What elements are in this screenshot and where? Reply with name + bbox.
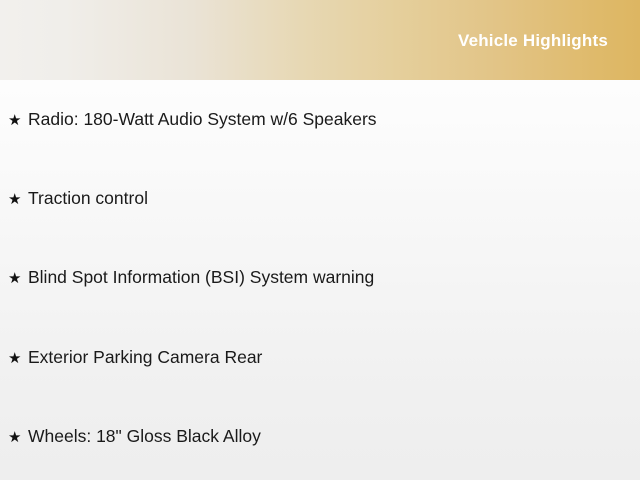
vehicle-highlights-page: Vehicle Highlights ★ Radio: 180-Watt Aud… xyxy=(0,0,640,480)
page-header: Vehicle Highlights xyxy=(0,0,640,80)
feature-label: Traction control xyxy=(28,190,148,208)
list-item: ★ Wheels: 18" Gloss Black Alloy xyxy=(0,428,261,452)
feature-label: Blind Spot Information (BSI) System warn… xyxy=(28,269,374,287)
star-bullet-icon: ★ xyxy=(8,271,28,286)
star-bullet-icon: ★ xyxy=(8,351,28,366)
list-item: ★ Blind Spot Information (BSI) System wa… xyxy=(0,269,374,293)
star-bullet-icon: ★ xyxy=(8,192,28,207)
list-item: ★ Exterior Parking Camera Rear xyxy=(0,349,262,373)
vehicle-highlights-list: ★ Radio: 180-Watt Audio System w/6 Speak… xyxy=(0,80,640,480)
list-item: ★ Traction control xyxy=(0,190,148,214)
feature-label: Wheels: 18" Gloss Black Alloy xyxy=(28,428,261,446)
feature-label: Exterior Parking Camera Rear xyxy=(28,349,262,367)
feature-label: Radio: 180-Watt Audio System w/6 Speaker… xyxy=(28,111,377,129)
star-bullet-icon: ★ xyxy=(8,113,28,128)
list-item: ★ Radio: 180-Watt Audio System w/6 Speak… xyxy=(0,111,377,135)
star-bullet-icon: ★ xyxy=(8,430,28,445)
page-title: Vehicle Highlights xyxy=(458,32,608,49)
